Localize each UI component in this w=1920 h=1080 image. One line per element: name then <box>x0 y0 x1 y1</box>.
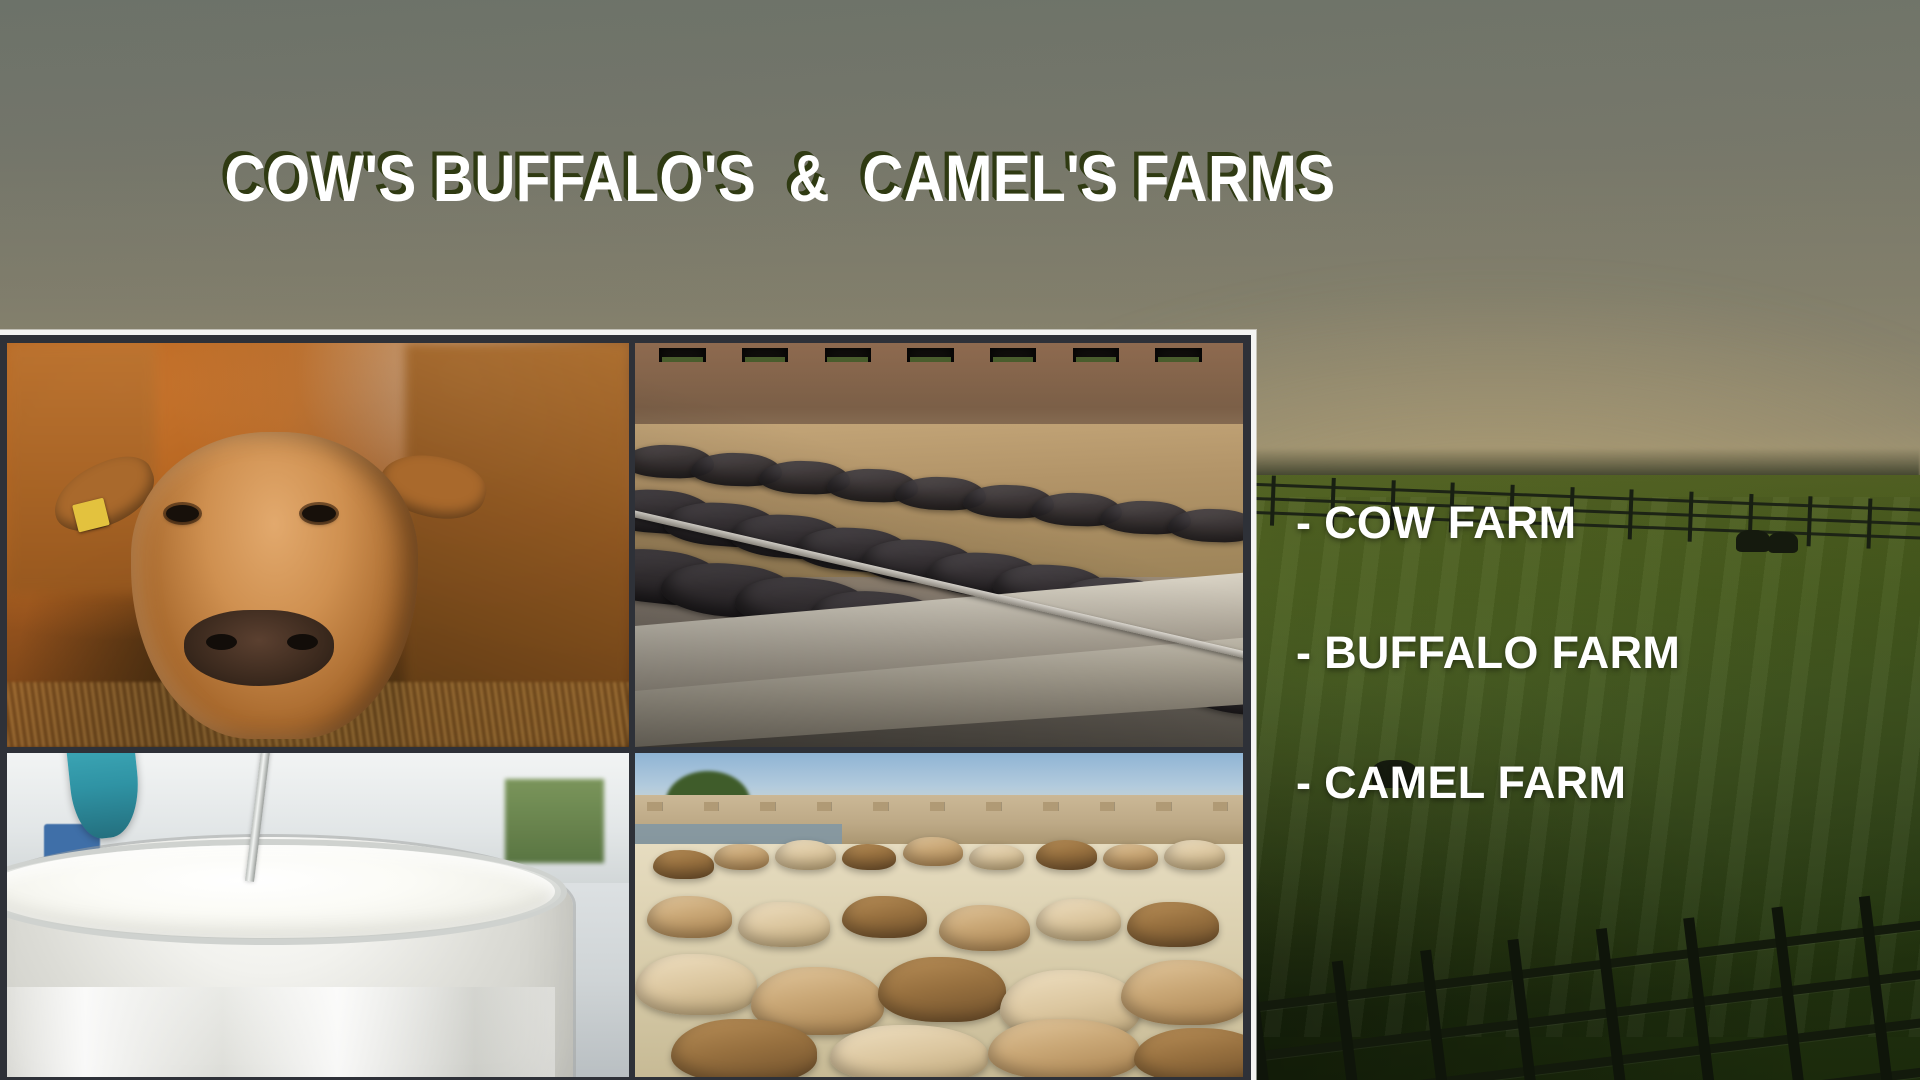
wall-post <box>1100 802 1115 811</box>
camel-figure <box>1127 902 1218 947</box>
camel-figure <box>1164 840 1225 869</box>
camel-figure <box>738 902 829 947</box>
camel-figure <box>635 954 757 1016</box>
wall-post <box>873 802 888 811</box>
fence-post <box>1420 950 1457 1080</box>
list-item-cow-farm[interactable]: - COW FARM <box>1296 497 1896 549</box>
wall-post <box>760 802 775 811</box>
slide-canvas: COW'S BUFFALO'S & CAMEL'S FARMS <box>0 0 1920 1080</box>
camel-figure <box>647 896 732 938</box>
camel-figure <box>988 1019 1140 1077</box>
camel-figure <box>939 905 1030 950</box>
camel-figure <box>969 844 1024 870</box>
photo-milk-image <box>7 753 629 1077</box>
list-item-camel-farm[interactable]: - CAMEL FARM <box>1296 757 1896 809</box>
camel-figure <box>653 850 714 879</box>
wall-post <box>647 802 662 811</box>
wall-post <box>1213 802 1228 811</box>
photo-buffalo-image <box>635 343 1243 747</box>
photo-buffalo[interactable] <box>635 343 1243 747</box>
photo-camel[interactable] <box>635 753 1243 1077</box>
photo-camel-image <box>635 753 1243 1077</box>
farm-type-list: - COW FARM - BUFFALO FARM - CAMEL FARM <box>1296 497 1896 809</box>
wall-post <box>817 802 832 811</box>
photo-cow-image <box>7 343 629 747</box>
photo-cow[interactable] <box>7 343 629 747</box>
camel-figure <box>903 837 964 866</box>
wall-post <box>1043 802 1058 811</box>
camel-figure <box>878 957 1006 1022</box>
camel-figure <box>775 840 836 869</box>
camel-figure <box>1103 844 1158 870</box>
page-title: COW'S BUFFALO'S & CAMEL'S FARMS <box>109 141 1451 215</box>
list-item-buffalo-farm[interactable]: - BUFFALO FARM <box>1296 627 1896 679</box>
wall-post <box>1156 802 1171 811</box>
fence-post <box>1859 896 1896 1080</box>
wall-post <box>986 802 1001 811</box>
wall-post <box>930 802 945 811</box>
image-collage-frame <box>0 335 1251 1080</box>
camel-figure <box>842 844 897 870</box>
camel-figure <box>714 844 769 870</box>
wall-post <box>704 802 719 811</box>
photo-milk[interactable] <box>7 753 629 1077</box>
camel-figure <box>1121 960 1243 1025</box>
image-collage <box>0 330 1256 1080</box>
camel-figure <box>842 896 927 938</box>
camel-figure <box>1036 840 1097 869</box>
fence-post <box>1508 939 1545 1080</box>
camel-figure <box>830 1025 988 1077</box>
camel-figure <box>1036 899 1121 941</box>
